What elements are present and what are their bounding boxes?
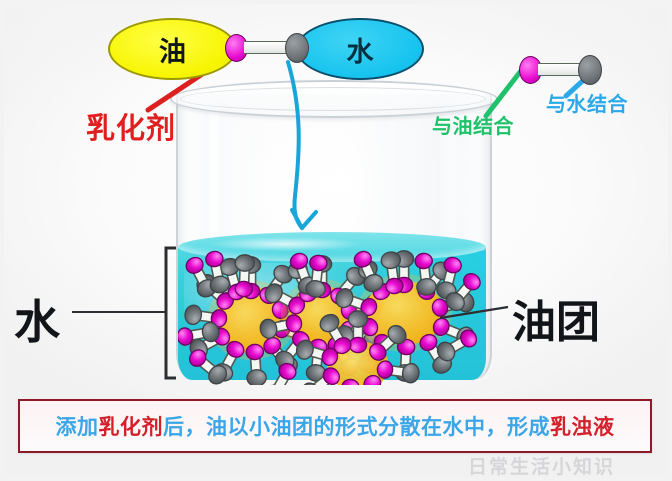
liquid-shadow xyxy=(366,251,486,371)
caption-part1: 添加 xyxy=(56,415,99,439)
diagram-canvas: 油 水 乳化剂 与油结合 与水结合 水 油团 添加乳化剂后，油以小油团的形式分散… xyxy=(0,0,672,481)
surfactant-chain-icon xyxy=(244,41,288,54)
liquid-highlight xyxy=(184,263,354,333)
liquid-surface-highlight xyxy=(210,237,360,251)
caption-text: 添加乳化剂后，油以小油团的形式分散在水中，形成乳浊液 xyxy=(56,411,615,441)
oil-ellipse: 油 xyxy=(108,18,237,80)
beaker-rim-inner xyxy=(180,87,486,111)
legend-surfactant-tail-icon xyxy=(578,55,602,85)
caption-box: 添加乳化剂后，油以小油团的形式分散在水中，形成乳浊液 xyxy=(18,399,652,453)
label-oil-droplet: 油团 xyxy=(512,286,600,350)
caption-highlight2: 乳浊液 xyxy=(550,415,615,439)
water-ellipse-label: 水 xyxy=(347,30,374,69)
label-binds-with-oil: 与油结合 xyxy=(432,110,514,139)
label-emulsifier: 乳化剂 xyxy=(86,105,176,147)
label-binds-with-water: 与水结合 xyxy=(546,88,628,117)
label-water-phase: 水 xyxy=(14,286,60,352)
caption-part2: 后，油以小油团的形式分散在水中，形成 xyxy=(163,415,550,439)
surfactant-tail-icon xyxy=(285,33,309,63)
oil-ellipse-label: 油 xyxy=(159,30,186,69)
caption-highlight1: 乳化剂 xyxy=(99,415,164,439)
beaker-liquid xyxy=(178,247,486,380)
legend-surfactant-chain-icon xyxy=(538,63,582,76)
water-ellipse: 水 xyxy=(296,18,424,80)
watermark: 日常生活小知识 xyxy=(468,452,615,479)
